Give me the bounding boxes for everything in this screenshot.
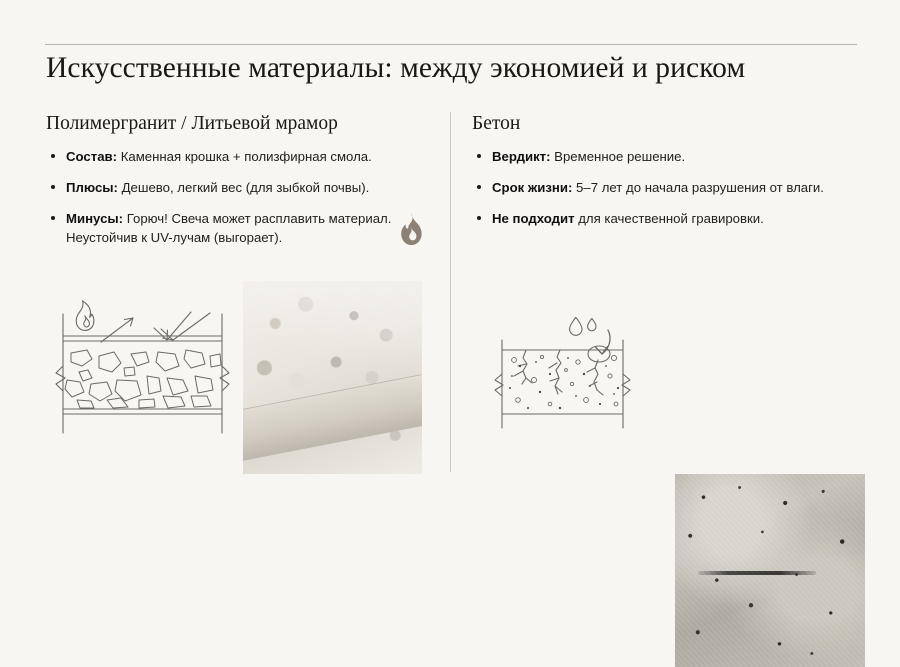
column-right: Бетон Вердикт: Временное решение. Срок ж… — [472, 112, 864, 229]
list-item: Срок жизни: 5–7 лет до начала разрушения… — [472, 179, 864, 198]
page-title: Искусственные материалы: между экономией… — [46, 52, 866, 85]
bullet-lead: Вердикт: — [492, 149, 551, 164]
photo-highlight — [243, 281, 422, 474]
bullet-text: Каменная крошка + полизфирная смола. — [117, 149, 372, 164]
list-item: Состав: Каменная крошка + полизфирная см… — [46, 148, 426, 167]
column-left-heading: Полимергранит / Литьевой мрамор — [46, 112, 426, 135]
list-item: Минусы: Горюч! Свеча может расплавить ма… — [46, 210, 426, 247]
bullet-text: Временное решение. — [551, 149, 686, 164]
bullet-dot-icon — [51, 185, 55, 189]
bullet-text: 5–7 лет до начала разрушения от влаги. — [572, 180, 824, 195]
bullet-text: для качественной гравировки. — [575, 211, 764, 226]
column-right-bullet-list: Вердикт: Временное решение. Срок жизни: … — [472, 148, 864, 228]
flame-icon — [396, 212, 424, 246]
column-divider — [450, 112, 451, 472]
bullet-lead: Состав: — [66, 149, 117, 164]
photo-grain-overlay — [675, 474, 865, 667]
list-item: Плюсы: Дешево, легкий вес (для зыбкой по… — [46, 179, 426, 198]
column-right-heading: Бетон — [472, 112, 864, 135]
bullet-lead: Не подходит — [492, 211, 575, 226]
bullet-dot-icon — [477, 185, 481, 189]
bullet-dot-icon — [51, 154, 55, 158]
bullet-lead: Плюсы: — [66, 180, 118, 195]
list-item: Не подходит для качественной гравировки. — [472, 210, 864, 229]
bullet-dot-icon — [51, 216, 55, 220]
terrazzo-slab-photo — [243, 281, 422, 474]
column-left: Полимергранит / Литьевой мрамор Состав: … — [46, 112, 426, 247]
bullet-lead: Минусы: — [66, 211, 123, 226]
polymer-granite-cross-section-diagram — [55, 296, 230, 451]
weathered-concrete-photo — [675, 474, 865, 667]
slide-root: Искусственные материалы: между экономией… — [0, 0, 900, 502]
column-left-bullet-list: Состав: Каменная крошка + полизфирная см… — [46, 148, 426, 247]
bullet-text: Дешево, легкий вес (для зыбкой почвы). — [118, 180, 369, 195]
bullet-lead: Срок жизни: — [492, 180, 572, 195]
bullet-dot-icon — [477, 216, 481, 220]
bullet-dot-icon — [477, 154, 481, 158]
concrete-cross-section-diagram — [490, 300, 645, 448]
list-item: Вердикт: Временное решение. — [472, 148, 864, 167]
top-divider-rule — [45, 44, 857, 45]
